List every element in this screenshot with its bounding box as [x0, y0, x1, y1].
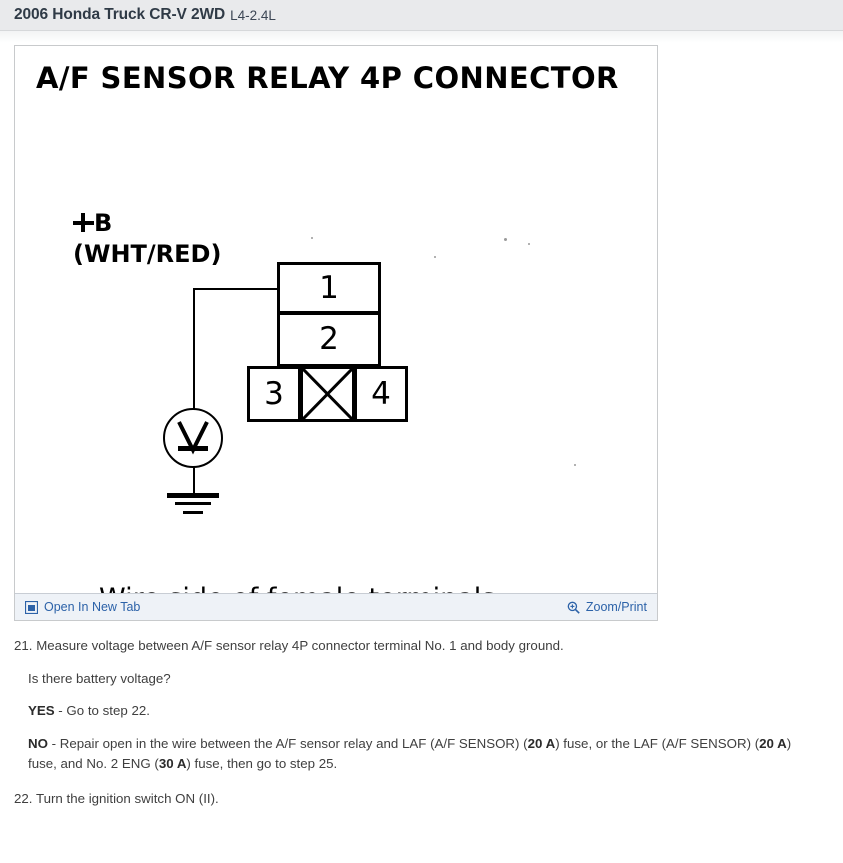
fuse-rating-3: 30 A	[159, 756, 187, 771]
step-22-text: Turn the ignition switch ON (II).	[36, 791, 219, 806]
wire-color-label: (WHT/RED)	[73, 240, 221, 268]
zoom-print-label: Zoom/Print	[586, 600, 647, 614]
wire-segment-horizontal	[193, 288, 279, 290]
plus-sign-icon	[73, 212, 94, 233]
page-header: 2006 Honda Truck CR-V 2WD L4-2.4L	[0, 0, 843, 31]
step-22-number: 22.	[14, 791, 33, 806]
answer-yes: YES - Go to step 22.	[28, 701, 814, 722]
wiring-diagram-image[interactable]: A/F SENSOR RELAY 4P CONNECTOR B (WHT/RED…	[15, 46, 657, 594]
open-in-new-tab-button[interactable]: Open In New Tab	[25, 600, 140, 614]
figure-panel: A/F SENSOR RELAY 4P CONNECTOR B (WHT/RED…	[14, 45, 658, 621]
vehicle-title: 2006 Honda Truck CR-V 2WD	[14, 6, 225, 24]
scan-artifact	[528, 243, 530, 245]
header-shadow	[0, 31, 843, 43]
scan-artifact	[311, 237, 313, 239]
engine-subtitle: L4-2.4L	[230, 8, 276, 23]
ground-symbol-bar-2	[175, 502, 211, 505]
ground-symbol-bar-1	[167, 493, 219, 498]
scan-artifact	[504, 238, 507, 241]
magnifier-plus-icon	[567, 601, 580, 614]
connector-pin-4: 4	[354, 366, 408, 422]
procedure-steps: 21. Measure voltage between A/F sensor r…	[14, 636, 814, 810]
answer-no-text-2: ) fuse, or the LAF (A/F SENSOR) (	[555, 736, 759, 751]
answer-no-text-1: - Repair open in the wire between the A/…	[48, 736, 528, 751]
fuse-rating-2: 20 A	[759, 736, 787, 751]
step-22: 22. Turn the ignition switch ON (II).	[14, 789, 814, 810]
voltmeter-glyph	[165, 410, 221, 466]
voltmeter-symbol	[163, 408, 223, 468]
scan-artifact	[574, 464, 576, 466]
connector-pin-2: 2	[277, 313, 381, 367]
ground-lead-wire	[193, 467, 195, 494]
zoom-print-button[interactable]: Zoom/Print	[567, 600, 647, 614]
diagram-title: A/F SENSOR RELAY 4P CONNECTOR	[36, 61, 619, 95]
step-21-text: Measure voltage between A/F sensor relay…	[36, 638, 564, 653]
connector-pin-1: 1	[277, 262, 381, 314]
fuse-rating-1: 20 A	[528, 736, 556, 751]
connector-blank-cavity	[300, 366, 355, 422]
answer-yes-label: YES	[28, 703, 55, 718]
answer-no-label: NO	[28, 736, 48, 751]
connector-pin-3: 3	[247, 366, 301, 422]
open-in-new-tab-label: Open In New Tab	[44, 600, 140, 614]
wire-segment-vertical	[193, 288, 195, 410]
answer-no-text-4: ) fuse, then go to step 25.	[186, 756, 337, 771]
figure-toolbar: Open In New Tab Zoom/Print	[15, 593, 657, 620]
new-window-icon	[25, 601, 38, 614]
wire-label-plus-b: B	[73, 210, 112, 237]
answer-yes-text: - Go to step 22.	[55, 703, 150, 718]
cross-out-icon	[303, 369, 352, 419]
wire-label-b: B	[94, 209, 112, 237]
step-21-number: 21.	[14, 638, 33, 653]
scan-artifact	[434, 256, 436, 258]
answer-no: NO - Repair open in the wire between the…	[28, 734, 814, 775]
step-21-question: Is there battery voltage?	[28, 669, 814, 690]
step-21: 21. Measure voltage between A/F sensor r…	[14, 636, 814, 657]
ground-symbol-bar-3	[183, 511, 203, 514]
